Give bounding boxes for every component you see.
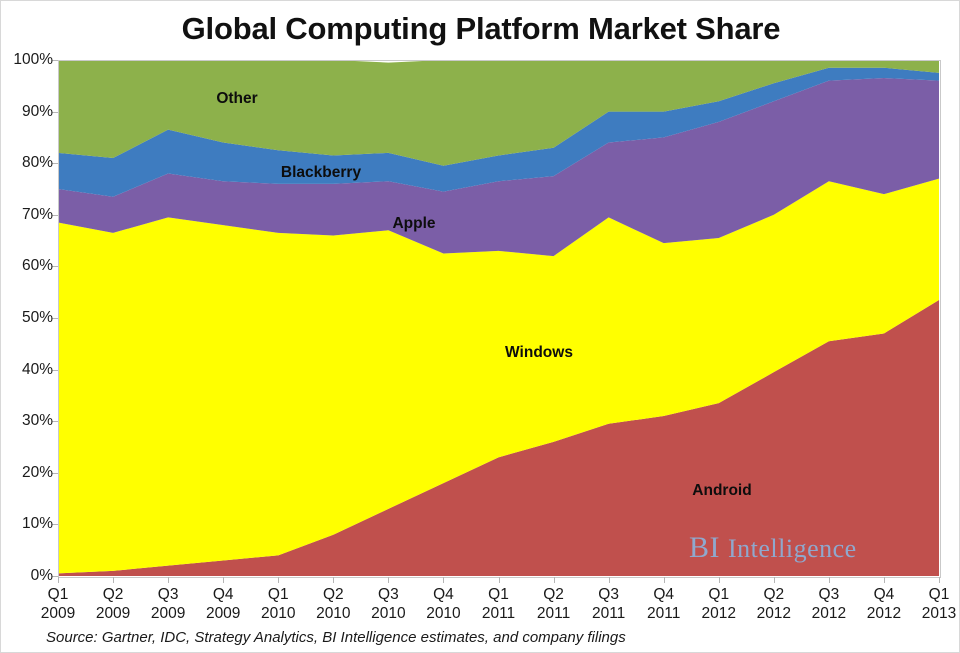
x-tick-quarter: Q1 xyxy=(482,585,515,604)
x-tick-quarter: Q4 xyxy=(206,585,240,604)
y-tick-label: 10% xyxy=(7,515,53,533)
y-tick-label: 70% xyxy=(7,206,53,224)
x-tick-mark xyxy=(443,577,444,583)
y-tick-label: 100% xyxy=(7,51,53,69)
plot-area xyxy=(58,60,939,576)
x-tick-mark xyxy=(223,577,224,583)
x-tick-quarter: Q4 xyxy=(647,585,680,604)
x-tick-quarter: Q3 xyxy=(371,585,405,604)
x-tick-label: Q12009 xyxy=(41,585,75,623)
x-tick-label: Q22011 xyxy=(537,585,570,623)
x-tick-quarter: Q2 xyxy=(96,585,130,604)
x-tick-quarter: Q3 xyxy=(812,585,846,604)
series-label-android: Android xyxy=(692,482,751,500)
y-tick-label: 20% xyxy=(7,464,53,482)
x-tick-year: 2010 xyxy=(426,604,460,623)
x-tick-mark xyxy=(168,577,169,583)
x-tick-mark xyxy=(58,577,59,583)
page-title: Global Computing Platform Market Share xyxy=(1,11,960,47)
x-tick-quarter: Q3 xyxy=(592,585,625,604)
x-tick-quarter: Q3 xyxy=(151,585,185,604)
x-tick-label: Q32010 xyxy=(371,585,405,623)
x-tick-mark xyxy=(719,577,720,583)
x-tick-year: 2012 xyxy=(757,604,791,623)
x-tick-year: 2011 xyxy=(647,604,680,623)
x-tick-mark xyxy=(664,577,665,583)
watermark-brand: BI xyxy=(689,531,720,564)
x-tick-quarter: Q4 xyxy=(426,585,460,604)
series-label-windows: Windows xyxy=(505,344,573,362)
x-tick-year: 2011 xyxy=(482,604,515,623)
x-tick-mark xyxy=(609,577,610,583)
x-tick-quarter: Q2 xyxy=(757,585,791,604)
series-label-other: Other xyxy=(216,90,257,108)
y-tick-label: 50% xyxy=(7,309,53,327)
x-tick-label: Q22012 xyxy=(757,585,791,623)
x-tick-mark xyxy=(388,577,389,583)
x-tick-year: 2012 xyxy=(867,604,901,623)
x-tick-year: 2013 xyxy=(922,604,956,623)
x-tick-mark xyxy=(939,577,940,583)
x-tick-mark xyxy=(333,577,334,583)
x-tick-year: 2012 xyxy=(812,604,846,623)
x-tick-label: Q42010 xyxy=(426,585,460,623)
x-tick-label: Q32009 xyxy=(151,585,185,623)
series-label-apple: Apple xyxy=(392,215,435,233)
x-tick-year: 2010 xyxy=(261,604,295,623)
source-note: Source: Gartner, IDC, Strategy Analytics… xyxy=(46,629,626,646)
x-tick-mark xyxy=(278,577,279,583)
x-axis: Q12009Q22009Q32009Q42009Q12010Q22010Q320… xyxy=(58,577,939,627)
stacked-area-chart xyxy=(58,60,939,576)
x-tick-year: 2011 xyxy=(537,604,570,623)
x-tick-year: 2009 xyxy=(206,604,240,623)
chart-page: Global Computing Platform Market Share 0… xyxy=(0,0,960,653)
x-tick-mark xyxy=(829,577,830,583)
x-tick-label: Q32012 xyxy=(812,585,846,623)
x-tick-label: Q32011 xyxy=(592,585,625,623)
y-tick-label: 40% xyxy=(7,361,53,379)
x-tick-quarter: Q1 xyxy=(41,585,75,604)
x-tick-quarter: Q4 xyxy=(867,585,901,604)
x-tick-label: Q42011 xyxy=(647,585,680,623)
x-tick-mark xyxy=(113,577,114,583)
x-tick-label: Q42009 xyxy=(206,585,240,623)
x-tick-mark xyxy=(554,577,555,583)
x-tick-year: 2009 xyxy=(151,604,185,623)
x-tick-label: Q12010 xyxy=(261,585,295,623)
x-tick-label: Q22009 xyxy=(96,585,130,623)
y-tick-label: 60% xyxy=(7,257,53,275)
x-tick-label: Q42012 xyxy=(867,585,901,623)
y-tick-label: 80% xyxy=(7,154,53,172)
x-tick-quarter: Q1 xyxy=(922,585,956,604)
x-tick-quarter: Q1 xyxy=(702,585,736,604)
x-tick-mark xyxy=(884,577,885,583)
x-tick-label: Q12012 xyxy=(702,585,736,623)
y-axis: 0%10%20%30%40%50%60%70%80%90%100% xyxy=(1,1,53,653)
x-tick-quarter: Q1 xyxy=(261,585,295,604)
x-tick-year: 2009 xyxy=(96,604,130,623)
watermark-product: Intelligence xyxy=(728,534,857,563)
x-tick-year: 2009 xyxy=(41,604,75,623)
x-tick-label: Q12011 xyxy=(482,585,515,623)
x-tick-mark xyxy=(499,577,500,583)
series-label-blackberry: Blackberry xyxy=(281,164,361,182)
x-tick-year: 2011 xyxy=(592,604,625,623)
watermark: BI Intelligence xyxy=(689,531,857,565)
y-tick-label: 30% xyxy=(7,412,53,430)
x-tick-year: 2012 xyxy=(702,604,736,623)
x-tick-label: Q12013 xyxy=(922,585,956,623)
x-tick-quarter: Q2 xyxy=(537,585,570,604)
y-tick-label: 90% xyxy=(7,103,53,121)
x-tick-year: 2010 xyxy=(371,604,405,623)
x-tick-quarter: Q2 xyxy=(316,585,350,604)
x-tick-mark xyxy=(774,577,775,583)
x-tick-year: 2010 xyxy=(316,604,350,623)
y-tick-label: 0% xyxy=(7,567,53,585)
x-tick-label: Q22010 xyxy=(316,585,350,623)
